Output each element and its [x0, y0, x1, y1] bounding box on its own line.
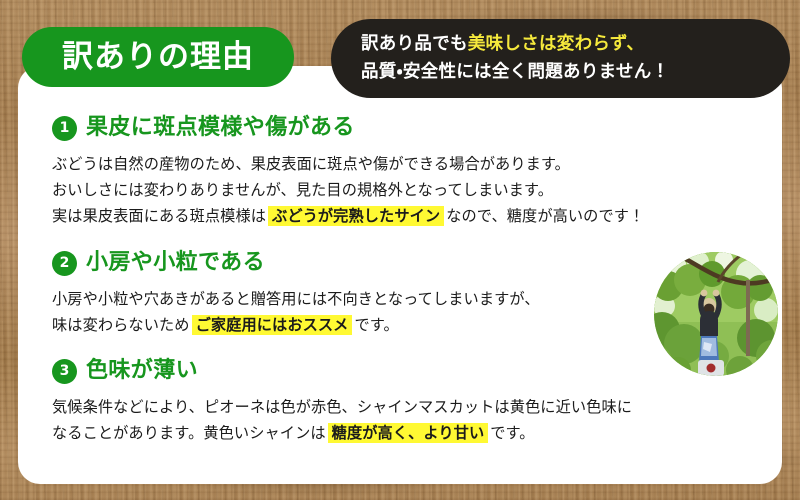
section-3-line-2: なることがあります。黄色いシャインは糖度が高く、より甘いです。 [52, 420, 776, 446]
highlight-run: ご家庭用にはおススメ [192, 315, 353, 335]
section-3-body: 気候条件などにより、ピオーネは色が赤色、シャインマスカットは黄色に近い色味に な… [52, 394, 776, 446]
section-3-heading: 3 色味が薄い [52, 355, 776, 387]
text-run: 味は変わらないため [52, 316, 190, 334]
section-3-heading-text: 色味が薄い [86, 360, 198, 382]
notice-banner-line-1: 訳あり品でも美味しさは変わらず、 [361, 30, 764, 58]
section-1-line-3: 実は果皮表面にある斑点模様はぶどうが完熟したサインなので、糖度が高いのです！ [52, 203, 776, 229]
title-pill: 訳ありの理由 [22, 27, 294, 87]
text-run: なることがあります。黄色いシャインは [52, 424, 326, 442]
text-run: 小房や小粒や穴あきがあると贈答用には不向きとなってしまいますが、 [52, 290, 540, 308]
section-3-line-1: 気候条件などにより、ピオーネは色が赤色、シャインマスカットは黄色に近い色味に [52, 394, 776, 420]
text-run: です。 [354, 316, 398, 334]
section-1-heading: 1 果皮に斑点模様や傷がある [52, 112, 776, 144]
text-run: なので、糖度が高いのです！ [446, 207, 644, 225]
vineyard-farmer-image [654, 252, 778, 376]
section-1-line-2: おいしさには変わりありませんが、見た目の規格外となってしまいます。 [52, 177, 776, 203]
section-3-number-badge: 3 [52, 359, 77, 384]
highlight-run: 糖度が高く、より甘い [328, 423, 489, 443]
section-2-number-badge: 2 [52, 251, 77, 276]
vineyard-farmer-photo [654, 252, 778, 376]
notice-banner: 訳あり品でも美味しさは変わらず、 品質・安全性には全く問題ありません！ [331, 19, 790, 98]
reason-section-3: 3 色味が薄い 気候条件などにより、ピオーネは色が赤色、シャインマスカットは黄色… [52, 355, 776, 446]
notice-banner-line-1-prefix: 訳あり品でも [361, 34, 468, 54]
text-run: 実は果皮表面にある斑点模様は [52, 207, 266, 225]
highlight-run: ぶどうが完熟したサイン [268, 206, 444, 226]
text-run: 気候条件などにより、ピオーネは色が赤色、シャインマスカットは黄色に近い色味に [52, 398, 632, 416]
text-run: です。 [490, 424, 534, 442]
section-1-line-1: ぶどうは自然の産物のため、果皮表面に斑点や傷ができる場合があります。 [52, 151, 776, 177]
text-run: ぶどうは自然の産物のため、果皮表面に斑点や傷ができる場合があります。 [52, 155, 570, 173]
section-1-heading-text: 果皮に斑点模様や傷がある [86, 117, 355, 139]
page-title: 訳ありの理由 [62, 42, 254, 73]
reason-section-1: 1 果皮に斑点模様や傷がある ぶどうは自然の産物のため、果皮表面に斑点や傷ができ… [52, 112, 776, 229]
text-run: おいしさには変わりありませんが、見た目の規格外となってしまいます。 [52, 181, 553, 199]
section-1-body: ぶどうは自然の産物のため、果皮表面に斑点や傷ができる場合があります。 おいしさに… [52, 151, 776, 229]
section-1-number-badge: 1 [52, 116, 77, 141]
notice-banner-line-2: 品質・安全性には全く問題ありません！ [361, 58, 764, 86]
notice-banner-line-1-accent: 美味しさは変わらず、 [468, 34, 644, 54]
section-2-heading-text: 小房や小粒である [86, 252, 265, 274]
